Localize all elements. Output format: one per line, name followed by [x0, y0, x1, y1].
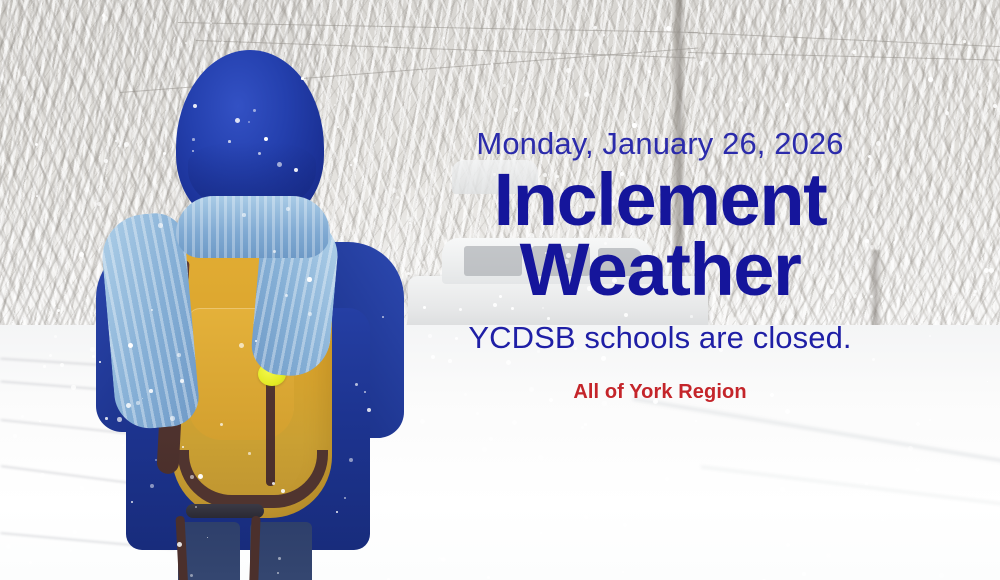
- inclement-weather-banner: Monday, January 26, 2026 Inclement Weath…: [0, 0, 1000, 580]
- headline-line-2: Weather: [430, 235, 890, 305]
- announcement-date: Monday, January 26, 2026: [430, 128, 890, 159]
- child-figure: [60, 46, 400, 580]
- announcement-headline: Inclement Weather: [430, 165, 890, 306]
- backpack-trim: [178, 450, 328, 508]
- light-blue-knit-scarf: [176, 196, 330, 258]
- school-status-message: YCDSB schools are closed.: [430, 322, 890, 353]
- announcement-text-block: Monday, January 26, 2026 Inclement Weath…: [430, 128, 890, 402]
- affected-region-label: All of York Region: [430, 382, 890, 402]
